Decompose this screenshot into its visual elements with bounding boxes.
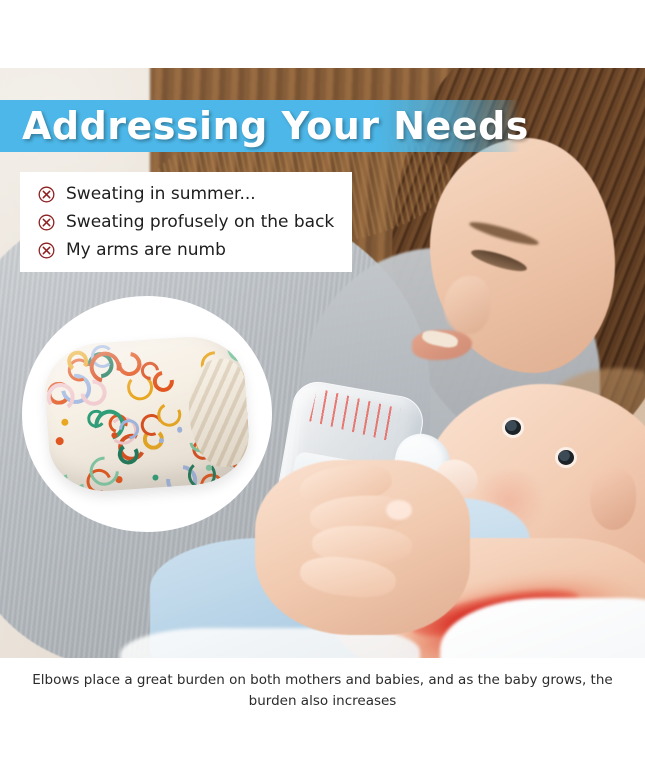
mother-fingernail <box>386 500 412 520</box>
caption-text: Elbows place a great burden on both moth… <box>32 670 613 712</box>
page-title: Addressing Your Needs <box>22 98 529 154</box>
product-infographic-page: Addressing Your Needs Sweating in summer… <box>0 0 645 774</box>
nursing-arm-pillow <box>42 333 252 495</box>
pain-points-card: Sweating in summer... Sweating profusely… <box>20 172 352 272</box>
circled-x-icon <box>38 242 55 259</box>
pillow-pattern <box>42 333 242 347</box>
list-item: Sweating in summer... <box>20 180 352 208</box>
baby-eye-left <box>505 420 521 435</box>
list-item-label: Sweating profusely on the back <box>66 208 334 236</box>
baby-eye-right <box>558 450 574 465</box>
caption-line-1: Elbows place a great burden on both moth… <box>32 672 586 688</box>
mother-nose <box>444 276 490 334</box>
caption-area: Elbows place a great burden on both moth… <box>0 658 645 774</box>
circled-x-icon <box>38 186 55 203</box>
list-item: My arms are numb <box>20 236 352 264</box>
list-item-label: My arms are numb <box>66 236 226 264</box>
list-item: Sweating profusely on the back <box>20 208 352 236</box>
top-white-margin <box>0 0 645 68</box>
product-inset-circle <box>22 296 272 532</box>
circled-x-icon <box>38 214 55 231</box>
baby-ear <box>590 468 636 530</box>
list-item-label: Sweating in summer... <box>66 180 256 208</box>
